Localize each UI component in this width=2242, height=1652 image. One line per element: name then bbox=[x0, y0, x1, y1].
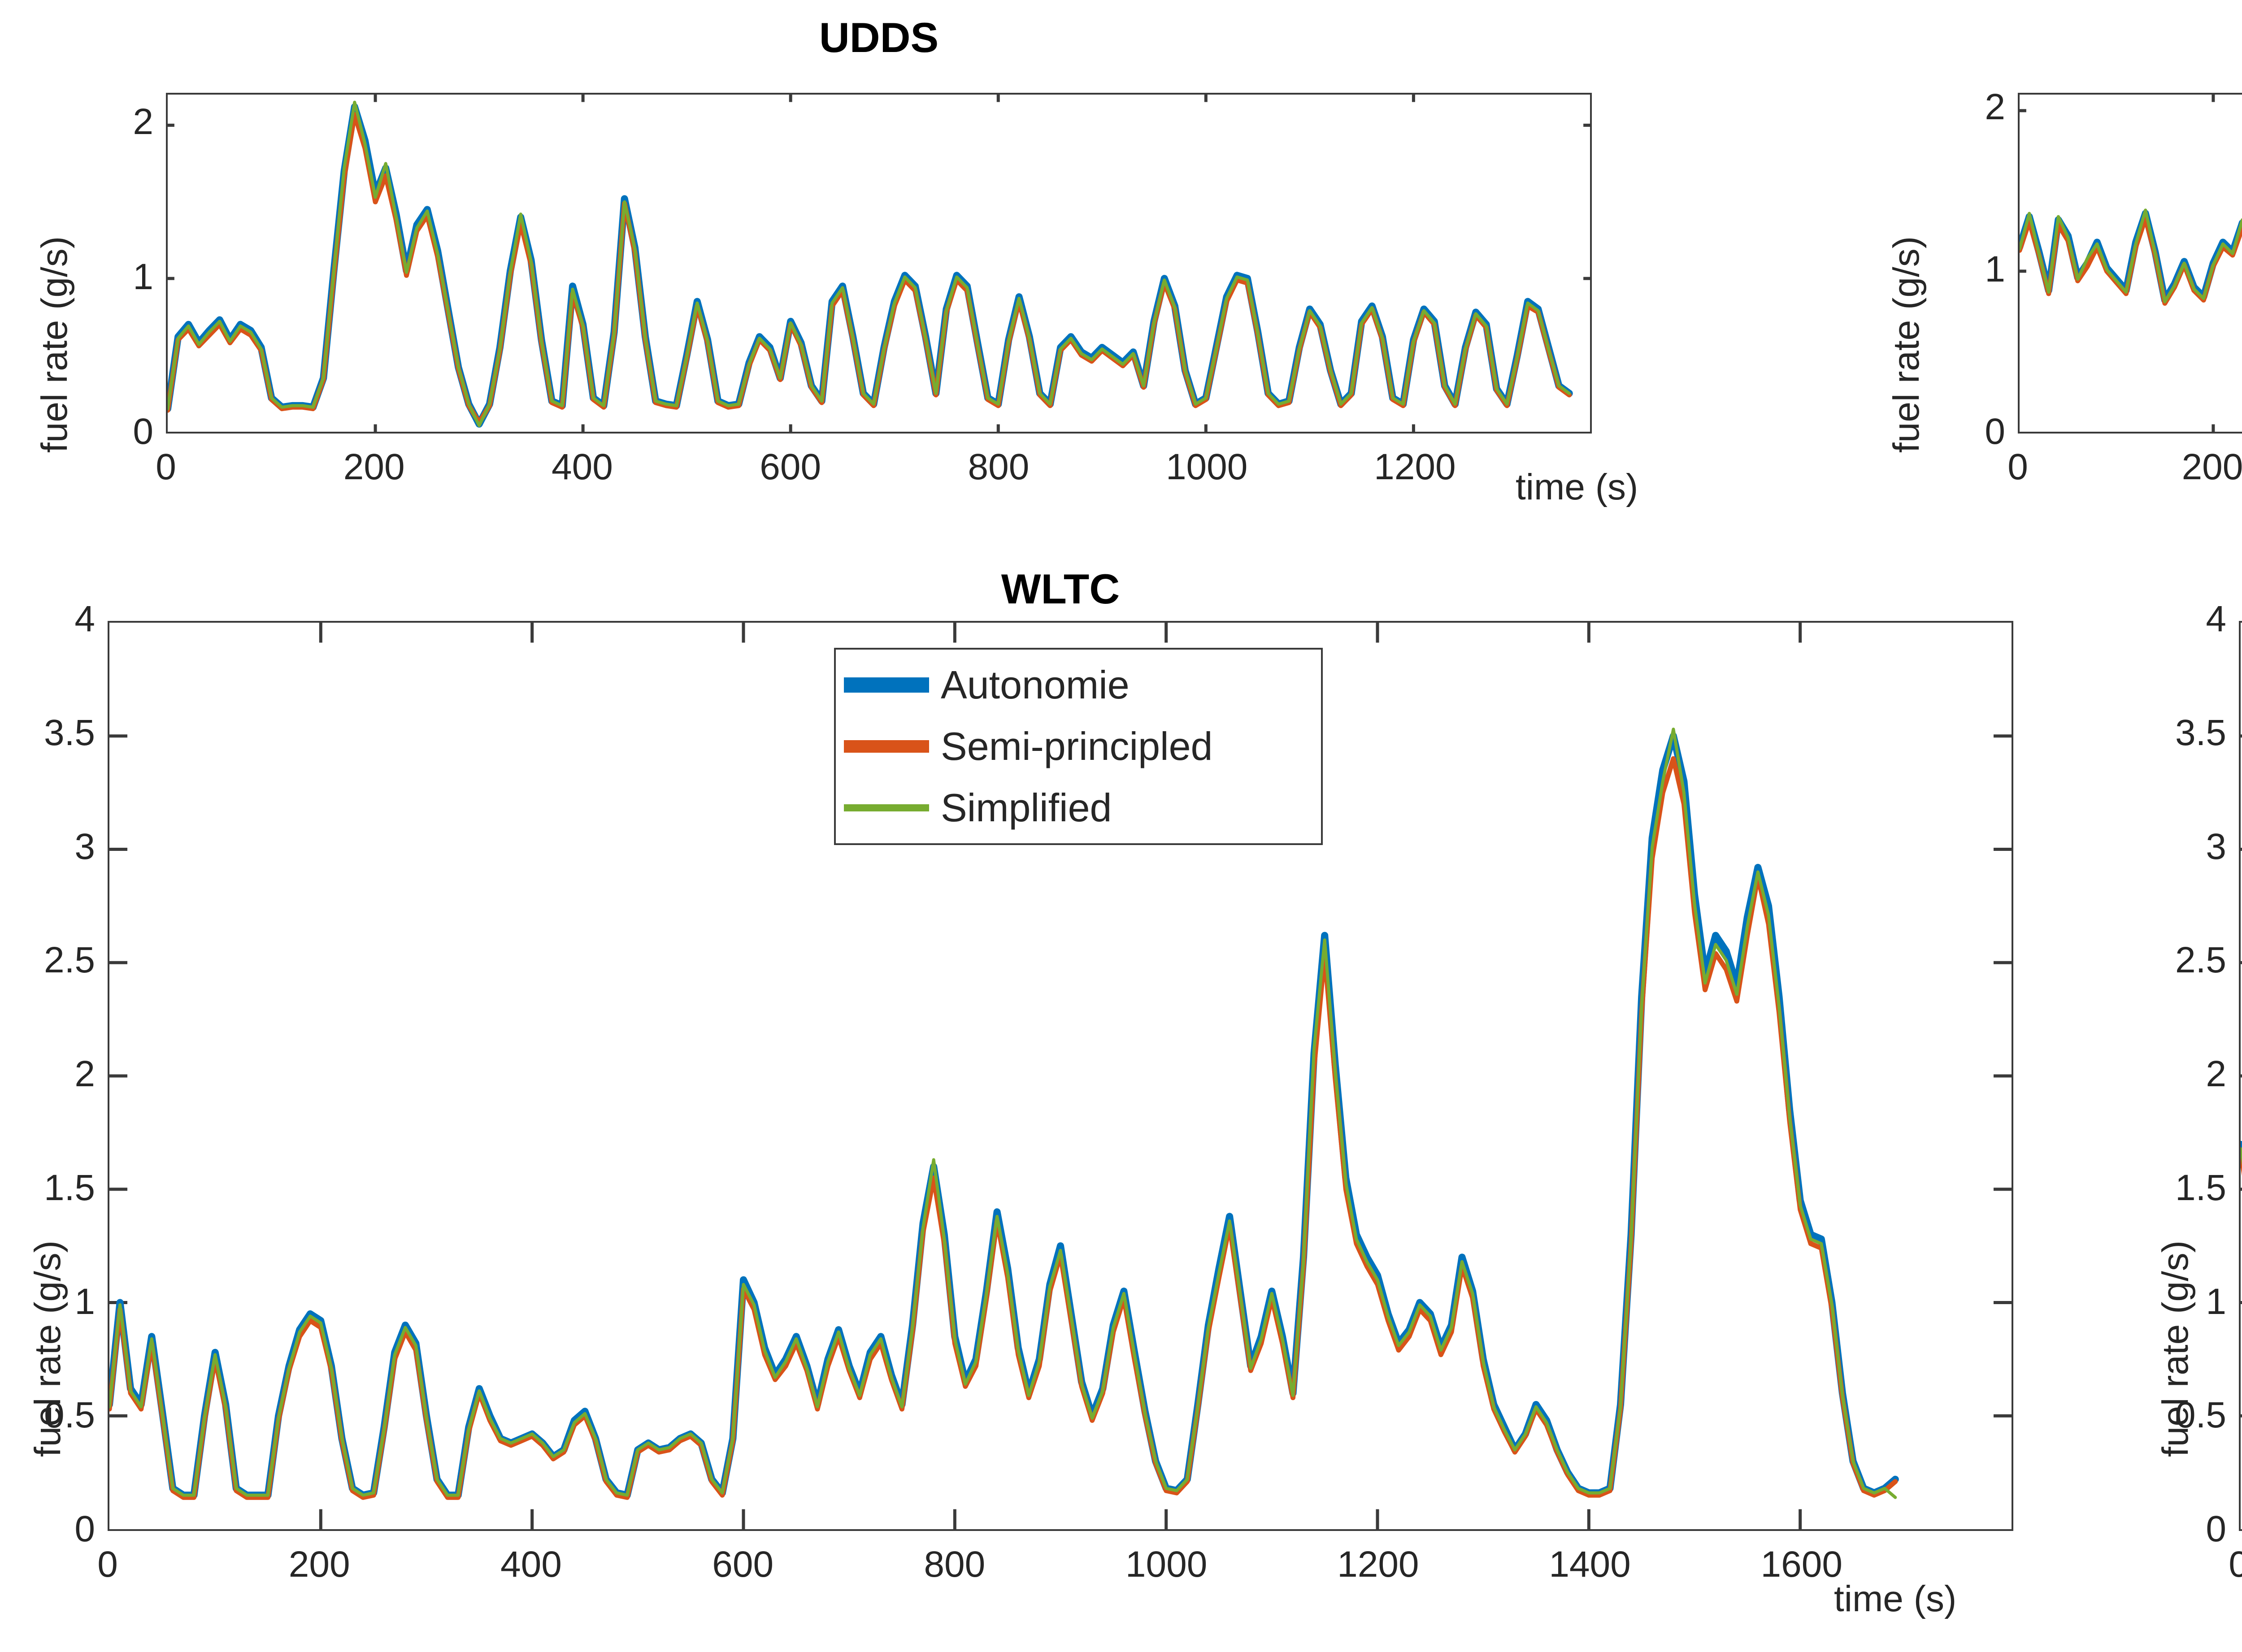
y-tick-label: 1 bbox=[1871, 248, 2005, 291]
panel-title-wltc: WLTC bbox=[108, 565, 2013, 613]
legend-label-autonomie: Autonomie bbox=[941, 662, 1130, 708]
y-tick-label: 0.5 bbox=[0, 1394, 95, 1436]
panel-title-udds: UDDS bbox=[166, 13, 1592, 62]
y-tick-label: 3.5 bbox=[0, 712, 95, 754]
y-tick-label: 2 bbox=[19, 101, 153, 143]
x-tick-label: 1000 bbox=[1117, 446, 1296, 488]
legend-swatch-simplified bbox=[844, 804, 929, 811]
legend-swatch-semi-principled bbox=[844, 740, 929, 753]
x-tick-label: 200 bbox=[230, 1544, 409, 1586]
y-tick-label: 2 bbox=[0, 1053, 95, 1095]
x-tick-label: 1200 bbox=[1288, 1544, 1468, 1586]
y-tick-label: 3.5 bbox=[2092, 712, 2226, 754]
x-tick-label: 400 bbox=[492, 446, 672, 488]
y-tick-label: 0 bbox=[1871, 411, 2005, 453]
legend: Autonomie Semi-principled Simplified bbox=[834, 648, 1323, 845]
x-tick-label: 1000 bbox=[1077, 1544, 1256, 1586]
y-tick-label: 2 bbox=[1871, 86, 2005, 128]
y-tick-label: 2.5 bbox=[2092, 939, 2226, 981]
legend-item-semi-principled[interactable]: Semi-principled bbox=[844, 724, 1313, 769]
x-tick-label: 800 bbox=[909, 446, 1088, 488]
y-tick-label: 0.5 bbox=[2092, 1394, 2226, 1436]
x-tick-label: 1400 bbox=[1500, 1544, 1680, 1586]
y-tick-label: 1 bbox=[2092, 1281, 2226, 1323]
y-tick-label: 1.5 bbox=[0, 1167, 95, 1209]
series-line-semi-principled bbox=[109, 759, 1895, 1497]
x-tick-label: 200 bbox=[2123, 446, 2242, 488]
legend-item-autonomie[interactable]: Autonomie bbox=[844, 662, 1313, 708]
legend-label-simplified: Simplified bbox=[941, 785, 1112, 831]
panel-hwfet: HWFET fuel rate (g/s) time (s) 020040060… bbox=[1749, 0, 2242, 560]
x-axis-label-udds: time (s) bbox=[1516, 466, 1638, 508]
legend-swatch-autonomie bbox=[844, 677, 929, 693]
legend-label-semi-principled: Semi-principled bbox=[941, 724, 1212, 769]
plot-area-udds bbox=[166, 93, 1592, 434]
series-line-semi-principled bbox=[168, 114, 1569, 422]
series-line-autonomie bbox=[168, 107, 1569, 424]
plot-area-hwfet bbox=[2018, 93, 2242, 434]
panel-wltc: WLTC fuel rate (g/s) Autonomie Semi-prin… bbox=[0, 560, 2130, 1652]
x-tick-label: 600 bbox=[653, 1544, 833, 1586]
panel-title-hwfet: HWFET bbox=[2018, 13, 2242, 62]
y-tick-label: 1.5 bbox=[2092, 1167, 2226, 1209]
series-line-simplified bbox=[168, 102, 1569, 425]
y-tick-label: 3 bbox=[2092, 826, 2226, 868]
y-tick-label: 0 bbox=[19, 411, 153, 453]
x-tick-label: 600 bbox=[701, 446, 880, 488]
y-tick-label: 4 bbox=[2092, 598, 2226, 640]
panel-udds: UDDS fuel rate (g/s) time (s) 0200400600… bbox=[0, 0, 1749, 560]
y-tick-label: 0 bbox=[0, 1508, 95, 1550]
series-line-autonomie bbox=[109, 736, 1895, 1495]
panel-title-us06: US06 bbox=[2239, 565, 2242, 613]
x-tick-label: 800 bbox=[865, 1544, 1044, 1586]
plot-area-us06 bbox=[2239, 621, 2242, 1531]
y-tick-label: 2.5 bbox=[0, 939, 95, 981]
y-tick-label: 1 bbox=[0, 1281, 95, 1323]
x-tick-label: 400 bbox=[441, 1544, 621, 1586]
y-tick-label: 4 bbox=[0, 598, 95, 640]
legend-item-simplified[interactable]: Simplified bbox=[844, 785, 1313, 831]
panel-us06: US06 fuel rate (g/s) time (s) 020040000.… bbox=[2130, 560, 2242, 1652]
x-tick-label: 1600 bbox=[1712, 1544, 1891, 1586]
y-tick-label: 2 bbox=[2092, 1053, 2226, 1095]
y-tick-label: 0 bbox=[2092, 1508, 2226, 1550]
y-tick-label: 1 bbox=[19, 256, 153, 298]
x-tick-label: 1200 bbox=[1325, 446, 1504, 488]
x-tick-label: 200 bbox=[284, 446, 464, 488]
y-tick-label: 3 bbox=[0, 826, 95, 868]
